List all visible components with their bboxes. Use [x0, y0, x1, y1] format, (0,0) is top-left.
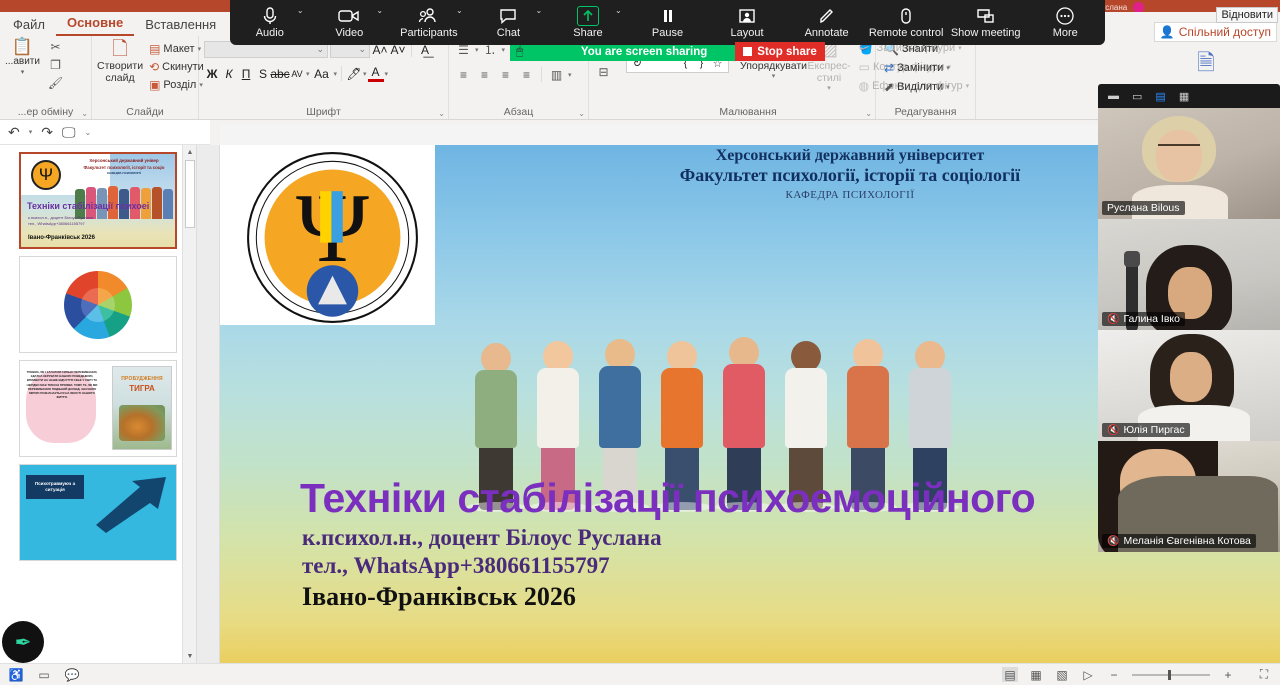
- tab-file[interactable]: Файл: [2, 15, 56, 36]
- replace-label: Замінити: [897, 62, 943, 74]
- zoom-share-label: Share: [573, 27, 602, 39]
- reset-label: Скинути: [162, 61, 204, 73]
- text-shadow-button[interactable]: S: [255, 65, 271, 82]
- status-bar: ♿ ▭ 💬 ▤ ▦ ▧ ▷ − + ⛶: [0, 663, 1280, 685]
- slide-thumbnail-pane[interactable]: Херсонський державний універ Факультет п…: [0, 145, 196, 663]
- thumbnail-scroll-up-icon[interactable]: ▲: [183, 145, 196, 159]
- fit-slide-icon[interactable]: ⛶: [1256, 667, 1272, 682]
- muted-microphone-icon: 🔇: [1107, 314, 1119, 325]
- zoom-participants-button[interactable]: Participants ⌄: [389, 0, 469, 45]
- thumbnail-scroll-thumb[interactable]: [185, 160, 195, 228]
- thumbnail-scrollbar[interactable]: ▲ ▼: [182, 145, 196, 663]
- faculty-logo: Ψ: [225, 150, 440, 325]
- zoom-layout-label: Layout: [731, 27, 764, 39]
- students-illustration: [475, 200, 1075, 510]
- group-title-clipboard: ...ер обміну: [0, 106, 91, 118]
- paste-icon[interactable]: 📋: [14, 38, 31, 55]
- zoom-chat-button[interactable]: Chat ⌄: [469, 0, 549, 45]
- zoom-pause-button[interactable]: Pause: [628, 0, 708, 45]
- participant-4-name: Меланія Євгенівна Котова: [1123, 535, 1250, 547]
- zoom-video-label: Video: [335, 27, 363, 39]
- audio-chevron-down-icon[interactable]: ⌄: [297, 6, 304, 15]
- arrange-label: Упорядкувати: [740, 61, 807, 73]
- drawing-dialog-launcher[interactable]: ⌄: [865, 109, 872, 118]
- participants-icon: [418, 6, 440, 26]
- zoom-show-meeting-label: Show meeting: [951, 27, 1021, 39]
- thumb4-label-box: Психотравмуюч а ситуація: [26, 475, 84, 499]
- mouse-icon: [899, 6, 913, 26]
- minimize-icon[interactable]: ▬: [1108, 90, 1119, 102]
- participant-1-name-tag: Руслана Bilous: [1102, 201, 1185, 215]
- single-view-icon[interactable]: ▭: [1132, 90, 1142, 103]
- comments-icon[interactable]: 💬: [64, 667, 80, 682]
- accessibility-icon[interactable]: ♿: [8, 667, 24, 682]
- participant-3-name: Юлія Пиргас: [1123, 424, 1184, 436]
- section-button[interactable]: ▣ Розділ ▾: [146, 77, 207, 93]
- participant-tile-2[interactable]: 🔇 Галина Івко: [1098, 219, 1280, 330]
- zoom-in-icon[interactable]: +: [1220, 667, 1236, 682]
- thumb1-title: Техніки стабілізації психоеі: [27, 201, 149, 211]
- sharing-pointer-icon: 🖱: [516, 44, 523, 59]
- paragraph-dialog-launcher[interactable]: ⌄: [578, 109, 585, 118]
- zoom-annotate-label: Annotate: [805, 27, 849, 39]
- participant-tile-1[interactable]: Руслана Bilous: [1098, 108, 1280, 219]
- participant-tile-4[interactable]: 🔇 Меланія Євгенівна Котова: [1098, 441, 1280, 552]
- stop-share-label: Stop share: [757, 46, 816, 58]
- thumb3-text: ТРАВМА, ЯК І ЗАГАЛОМ СИЛЬНІ ПЕРЕЖИВАННЯ,…: [24, 370, 100, 399]
- group-title-editing: Редагування: [876, 106, 975, 118]
- bold-button[interactable]: Ж: [204, 65, 220, 82]
- replace-icon: ⇄: [884, 61, 894, 75]
- start-slideshow-icon[interactable]: 🖵: [62, 124, 76, 141]
- participant-tile-3[interactable]: 🔇 Юлія Пиргас: [1098, 330, 1280, 441]
- powerpoint-window: Руслана Файл Основне Вставлення Констр 📋…: [0, 0, 1280, 685]
- underline-button[interactable]: П: [238, 65, 254, 82]
- gallery-view-icon[interactable]: ▦: [1179, 90, 1189, 103]
- annotation-pen-button[interactable]: ✒: [2, 621, 44, 663]
- more-dots-icon: [1055, 6, 1075, 26]
- group-title-slides: Слайди: [92, 106, 198, 118]
- pane-splitter[interactable]: [196, 145, 220, 663]
- slide-thumbnail-1[interactable]: Херсонський державний універ Факультет п…: [19, 152, 177, 249]
- zoom-layout-button[interactable]: Layout: [707, 0, 787, 45]
- slide-city-year-line[interactable]: Івано-Франківськ 2026: [302, 582, 576, 612]
- font-dialog-launcher[interactable]: ⌄: [438, 109, 445, 118]
- slide-contact-line[interactable]: тел., WhatsApp+380661155797: [302, 553, 610, 579]
- thumb2-emotion-wheel: [64, 271, 132, 339]
- thumb1-subtitle: к.психол.н., доцент Білоус Руслана тел.,…: [28, 215, 93, 227]
- format-painter-icon[interactable]: 🖌: [47, 74, 64, 91]
- character-spacing-button[interactable]: AV: [289, 65, 305, 82]
- thumbnail-scroll-down-icon[interactable]: ▼: [183, 649, 196, 663]
- notes-icon[interactable]: ▭: [36, 667, 52, 682]
- participant-1-name: Руслана Bilous: [1107, 202, 1180, 214]
- zoom-panel-controls: ▬ ▭ ▤ ▦: [1098, 84, 1280, 108]
- layout-icon: [738, 6, 756, 26]
- zoom-share-button[interactable]: Share ⌄: [548, 0, 628, 45]
- pdf-help-icon: 🗎: [1197, 46, 1215, 84]
- font-color-button[interactable]: A: [368, 65, 384, 82]
- zoom-remote-control-button[interactable]: Remote control: [866, 0, 946, 45]
- slide-thumbnail-4[interactable]: Психотравмуюч а ситуація: [19, 464, 177, 561]
- share-screen-icon: [577, 6, 599, 26]
- align-text-icon[interactable]: ⊟: [594, 63, 613, 80]
- group-title-font: Шрифт: [199, 106, 448, 118]
- section-label: Розділ: [163, 79, 196, 91]
- thumb1-city: Івано-Франківськ 2026: [28, 235, 95, 241]
- participants-chevron-down-icon[interactable]: ⌄: [456, 6, 463, 15]
- redo-icon[interactable]: ↷: [41, 124, 53, 141]
- zoom-video-button[interactable]: Video ⌄: [310, 0, 390, 45]
- layout-label: Макет: [163, 43, 194, 55]
- thumb3-book-title2: ТИГРА: [113, 384, 171, 393]
- camera-icon: [338, 6, 360, 26]
- thumb1-head2: Факультет психології, історії та соціо: [77, 165, 171, 172]
- zoom-remote-control-label: Remote control: [869, 27, 944, 39]
- participant-2-name: Галина Івко: [1123, 313, 1180, 325]
- thumb1-students-illustration: [73, 173, 173, 220]
- new-slide-label: Створити слайд: [97, 61, 143, 85]
- zoom-show-meeting-button[interactable]: Show meeting: [946, 0, 1026, 45]
- italic-button[interactable]: К: [221, 65, 237, 82]
- clipboard-dialog-launcher[interactable]: ⌄: [81, 109, 88, 118]
- align-left-icon[interactable]: ≡: [454, 66, 473, 83]
- muted-microphone-icon: 🔇: [1107, 536, 1119, 547]
- justify-icon[interactable]: ≡: [517, 66, 536, 83]
- copy-icon[interactable]: ❐: [47, 56, 64, 73]
- group-title-paragraph: Абзац: [449, 106, 588, 118]
- thumb1-head1: Херсонський державний універ: [77, 158, 171, 165]
- section-icon: ▣: [149, 78, 160, 92]
- slide-thumbnail-3[interactable]: ТРАВМА, ЯК І ЗАГАЛОМ СИЛЬНІ ПЕРЕЖИВАННЯ,…: [19, 360, 177, 457]
- select-button[interactable]: ⬈ Виділити ▾: [881, 79, 953, 95]
- reading-view-icon[interactable]: ▧: [1054, 667, 1070, 682]
- muted-microphone-icon: 🔇: [1107, 425, 1119, 436]
- tab-home[interactable]: Основне: [56, 13, 134, 36]
- replace-button[interactable]: ⇄ Замінити ▾: [881, 60, 953, 76]
- pause-icon: [661, 6, 675, 26]
- window-icon: [976, 6, 996, 26]
- thumb1-sub2: тел., WhatsApp+380661155797: [28, 221, 93, 227]
- align-center-icon[interactable]: ≡: [475, 66, 494, 83]
- strikethrough-button[interactable]: abc: [272, 65, 288, 82]
- zoom-participants-label: Participants: [400, 27, 457, 39]
- align-right-icon[interactable]: ≡: [496, 66, 515, 83]
- group-title-drawing: Малювання: [621, 106, 875, 118]
- new-slide-icon: 🗋: [112, 40, 127, 59]
- ribbon-group-slides: 🗋 Створити слайд ▤ Макет ▾ ⟲ Скинути ▣: [92, 36, 199, 119]
- chat-icon: [499, 6, 517, 26]
- qat-customize-icon[interactable]: ⌄: [84, 128, 91, 137]
- zoom-more-label: More: [1053, 27, 1078, 39]
- slide-author-line[interactable]: к.психол.н., доцент Білоус Руслана: [302, 525, 662, 551]
- zoom-pause-label: Pause: [652, 27, 683, 39]
- sharing-banner-label: You are screen sharing: [529, 46, 759, 58]
- zoom-out-icon[interactable]: −: [1106, 667, 1122, 682]
- thumb3-tiger-image: [119, 405, 165, 441]
- zoom-annotate-button[interactable]: Annotate: [787, 0, 867, 45]
- slide-sorter-view-icon[interactable]: ▦: [1028, 667, 1044, 682]
- columns-icon[interactable]: ▥: [547, 66, 566, 83]
- thumb4-arrow-graphic: [96, 477, 170, 533]
- zoom-video-panel[interactable]: ▬ ▭ ▤ ▦ Руслана Bilous 🔇 Галина Івко 🔇 Ю…: [1098, 84, 1280, 552]
- stop-share-button[interactable]: Stop share: [735, 42, 825, 61]
- reset-button[interactable]: ⟲ Скинути: [146, 59, 207, 75]
- chat-chevron-down-icon[interactable]: ⌄: [535, 6, 542, 15]
- participant-2-name-tag: 🔇 Галина Івко: [1102, 312, 1185, 326]
- cut-icon[interactable]: ✂: [47, 38, 64, 55]
- ribbon-group-clipboard: 📋 ...авити ▾ ✂ ❐ 🖌 ...ер обміну ⌄: [0, 36, 92, 119]
- ribbon-group-font: ⌄ ⌄ A˄ A˅ A͟ Ж К П S abc AV: [199, 36, 449, 119]
- select-icon: ⬈: [884, 80, 894, 94]
- paste-chevron-down-icon[interactable]: ▾: [21, 68, 25, 76]
- share-document-label: Спільний доступ: [1179, 25, 1271, 39]
- share-chevron-down-icon[interactable]: ⌄: [615, 6, 622, 15]
- layout-button[interactable]: ▤ Макет ▾: [146, 41, 207, 57]
- shape-effects-icon: ◍: [859, 79, 869, 93]
- share-document-button[interactable]: 👤 Спільний доступ: [1154, 22, 1277, 42]
- quick-access-toolbar: ↶ ▾ ↷ 🖵 ⌄: [0, 120, 210, 145]
- share-person-icon: 👤: [1160, 25, 1175, 39]
- select-label: Виділити: [897, 81, 943, 93]
- change-case-button[interactable]: Aa: [311, 65, 333, 82]
- slideshow-view-icon[interactable]: ▷: [1080, 667, 1096, 682]
- undo-chevron-down-icon[interactable]: ▾: [29, 128, 33, 136]
- participant-4-name-tag: 🔇 Меланія Євгенівна Котова: [1102, 534, 1256, 548]
- ribbon-group-editing: 🔍 Знайти ⇄ Замінити ▾ ⬈ Виділити ▾ Редаг…: [876, 36, 976, 119]
- quick-styles-label: Експрес-стилі: [808, 61, 851, 85]
- restore-window-tooltip: Відновити: [1216, 7, 1278, 23]
- reset-icon: ⟲: [149, 60, 159, 74]
- layout-icon: ▤: [149, 42, 160, 56]
- video-chevron-down-icon[interactable]: ⌄: [376, 6, 383, 15]
- pen-icon: ✒: [15, 630, 32, 655]
- thumb3-book-cover: ПРОБУДЖЕННЯ ТИГРА: [112, 366, 172, 450]
- zoom-slider[interactable]: [1132, 674, 1210, 676]
- shape-outline-icon: ▭: [859, 60, 870, 74]
- zoom-audio-label: Audio: [256, 27, 284, 39]
- microphone-icon: [262, 6, 278, 26]
- undo-icon[interactable]: ↶: [8, 124, 20, 141]
- participant-3-name-tag: 🔇 Юлія Пиргас: [1102, 423, 1190, 437]
- paste-button-label[interactable]: ...авити: [5, 56, 40, 67]
- pen-icon: [818, 6, 836, 26]
- tab-insert[interactable]: Вставлення: [134, 15, 227, 36]
- thumb1-faculty-logo: [31, 160, 61, 190]
- slide-thumbnail-2[interactable]: [19, 256, 177, 353]
- split-view-icon[interactable]: ▤: [1155, 90, 1165, 103]
- zoom-audio-button[interactable]: Audio ⌄: [230, 0, 310, 45]
- thumb3-book-title1: ПРОБУДЖЕННЯ: [113, 376, 171, 382]
- normal-view-icon[interactable]: ▤: [1002, 667, 1018, 682]
- new-slide-button[interactable]: 🗋 Створити слайд: [97, 38, 143, 85]
- account-avatar[interactable]: [1133, 2, 1144, 13]
- zoom-more-button[interactable]: More: [1025, 0, 1105, 45]
- zoom-chat-label: Chat: [497, 27, 520, 39]
- text-highlight-icon[interactable]: 🖊: [346, 65, 362, 82]
- zoom-meeting-toolbar[interactable]: Audio ⌄ Video ⌄ Participants ⌄ Chat ⌄ Sh…: [230, 0, 1105, 45]
- stop-square-icon: [743, 47, 752, 56]
